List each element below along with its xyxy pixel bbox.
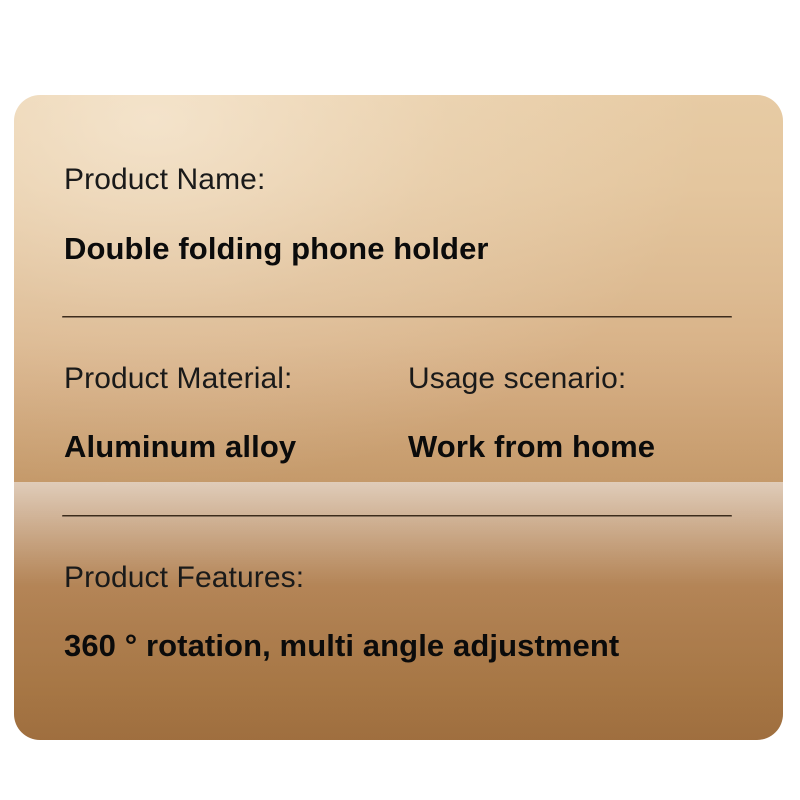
product-material-value: Aluminum alloy	[64, 429, 296, 465]
divider-2	[62, 515, 732, 517]
product-name-value: Double folding phone holder	[64, 231, 489, 267]
divider-1	[62, 316, 732, 318]
card-content: Product Name: Double folding phone holde…	[14, 95, 783, 740]
usage-scenario-label: Usage scenario:	[408, 362, 626, 396]
product-features-value: 360 ° rotation, multi angle adjustment	[64, 628, 619, 664]
product-features-label: Product Features:	[64, 561, 304, 595]
product-name-label: Product Name:	[64, 163, 265, 197]
page-canvas: Product Name: Double folding phone holde…	[0, 0, 800, 800]
usage-scenario-value: Work from home	[408, 429, 655, 465]
product-spec-card: Product Name: Double folding phone holde…	[14, 95, 783, 740]
product-material-label: Product Material:	[64, 362, 292, 396]
